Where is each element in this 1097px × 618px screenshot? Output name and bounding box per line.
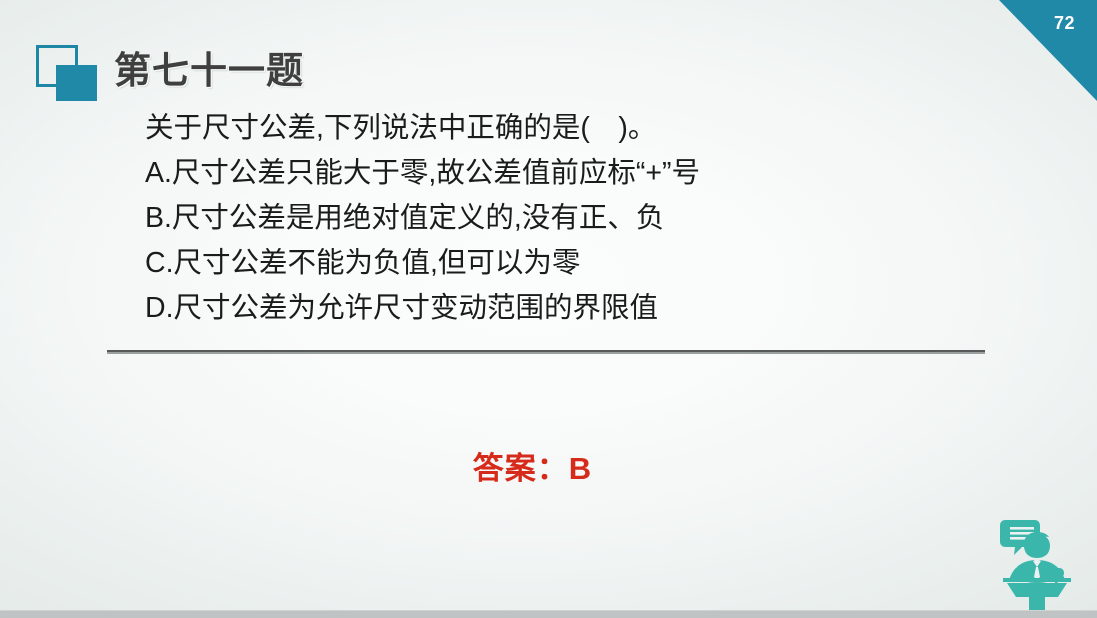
question-option-c: C.尺寸公差不能为负值,但可以为零 bbox=[145, 241, 1025, 286]
square-filled-shape bbox=[56, 65, 97, 101]
two-squares-icon bbox=[34, 45, 98, 101]
answer-row: 答案：B bbox=[0, 443, 1097, 488]
question-option-d: D.尺寸公差为允许尺寸变动范围的界限值 bbox=[145, 286, 1025, 331]
slide-canvas: 72 第七十一题 关于尺寸公差,下列说法中正确的是( )。 A.尺寸公差只能大于… bbox=[0, 0, 1097, 618]
question-option-a: A.尺寸公差只能大于零,故公差值前应标“+”号 bbox=[145, 151, 1025, 196]
horizontal-divider bbox=[107, 350, 985, 354]
question-stem: 关于尺寸公差,下列说法中正确的是( )。 bbox=[145, 106, 1025, 151]
page-number: 72 bbox=[1054, 14, 1075, 32]
answer-text: 答案：B bbox=[473, 443, 592, 488]
bottom-rail bbox=[0, 611, 1097, 618]
speaker-at-podium-icon bbox=[985, 508, 1089, 612]
question-option-b: B.尺寸公差是用绝对值定义的,没有正、负 bbox=[145, 196, 1025, 241]
page-title: 第七十一题 bbox=[114, 40, 304, 94]
question-block: 关于尺寸公差,下列说法中正确的是( )。 A.尺寸公差只能大于零,故公差值前应标… bbox=[145, 106, 1025, 331]
corner-triangle-decoration bbox=[999, 0, 1097, 101]
